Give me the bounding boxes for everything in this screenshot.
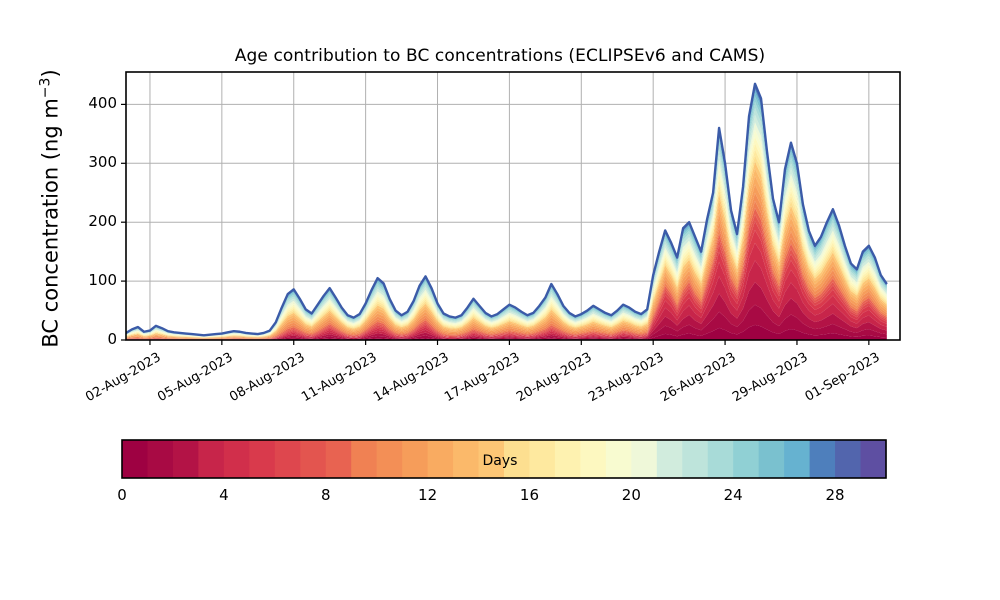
figure-canvas: Age contribution to BC concentrations (E…: [0, 0, 1000, 600]
colorbar-swatch-26: [784, 440, 810, 478]
colorbar-swatch-8: [326, 440, 352, 478]
colorbar-swatch-22: [682, 440, 708, 478]
colorbar-swatch-13: [453, 440, 479, 478]
colorbar-swatch-28: [835, 440, 861, 478]
colorbar-tick-label-28: 28: [826, 486, 845, 504]
colorbar-tick-label-20: 20: [622, 486, 641, 504]
colorbar-tick-label-12: 12: [418, 486, 437, 504]
colorbar-swatch-14: [479, 440, 505, 478]
colorbar-tick-label-8: 8: [321, 486, 331, 504]
colorbar-swatch-18: [580, 440, 606, 478]
colorbar-tick-label-16: 16: [520, 486, 539, 504]
colorbar-swatch-23: [708, 440, 734, 478]
colorbar-swatch-16: [529, 440, 555, 478]
colorbar-swatch-12: [428, 440, 454, 478]
colorbar-swatch-24: [733, 440, 759, 478]
colorbar-swatch-7: [300, 440, 326, 478]
colorbar-swatch-21: [657, 440, 683, 478]
colorbar[interactable]: [122, 440, 887, 478]
colorbar-swatch-3: [198, 440, 224, 478]
colorbar-swatch-9: [351, 440, 377, 478]
colorbar-swatch-1: [147, 440, 173, 478]
colorbar-tick-label-0: 0: [117, 486, 127, 504]
colorbar-swatch-20: [631, 440, 657, 478]
colorbar-tick-label-24: 24: [724, 486, 743, 504]
colorbar-swatch-11: [402, 440, 428, 478]
colorbar-swatch-19: [606, 440, 632, 478]
colorbar-swatch-2: [173, 440, 199, 478]
stacked-area-plot: [0, 0, 1000, 600]
colorbar-swatch-0: [122, 440, 148, 478]
colorbar-swatch-6: [275, 440, 301, 478]
colorbar-swatch-5: [249, 440, 275, 478]
colorbar-swatch-4: [224, 440, 250, 478]
colorbar-swatch-27: [810, 440, 836, 478]
colorbar-swatch-15: [504, 440, 530, 478]
colorbar-swatch-25: [759, 440, 785, 478]
colorbar-tick-label-4: 4: [219, 486, 229, 504]
colorbar-swatch-17: [555, 440, 581, 478]
colorbar-swatch-10: [377, 440, 403, 478]
colorbar-swatch-29: [861, 440, 887, 478]
